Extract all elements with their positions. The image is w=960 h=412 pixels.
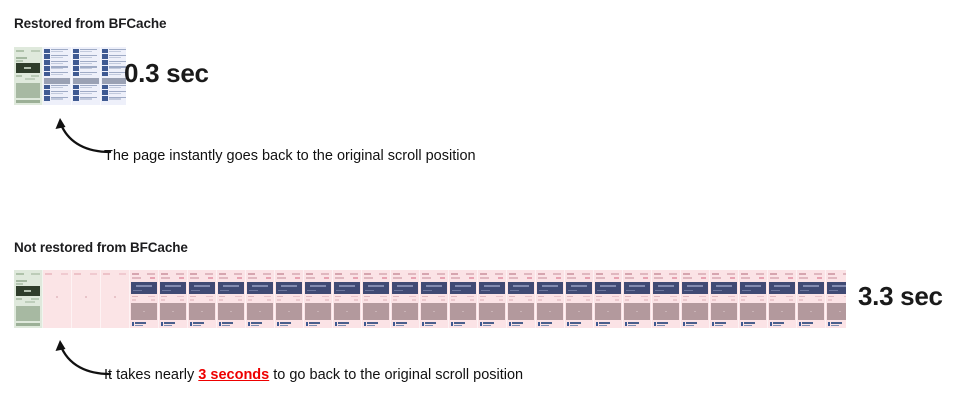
filmstrip-frame[interactable] (826, 270, 846, 328)
filmstrip-frame[interactable] (43, 47, 72, 105)
filmstrip-frame[interactable] (594, 270, 623, 328)
filmstrip-frame[interactable] (623, 270, 652, 328)
filmstrip-frame[interactable] (652, 270, 681, 328)
filmstrip-restored[interactable] (14, 47, 126, 105)
filmstrip-frame[interactable] (246, 270, 275, 328)
filmstrip-frame[interactable] (275, 270, 304, 328)
filmstrip-frame[interactable] (333, 270, 362, 328)
filmstrip-frame[interactable] (101, 270, 130, 328)
section-heading-restored: Restored from BFCache (14, 16, 166, 31)
filmstrip-frame[interactable] (43, 270, 72, 328)
filmstrip-frame[interactable] (72, 270, 101, 328)
filmstrip-frame[interactable] (565, 270, 594, 328)
time-label-not-restored: 3.3 sec (858, 281, 943, 312)
section-heading-not-restored: Not restored from BFCache (14, 240, 188, 255)
filmstrip-frame[interactable] (14, 270, 43, 328)
curved-arrow-icon-restored (48, 108, 112, 158)
caption-not-restored-prefix: It takes nearly (104, 367, 198, 383)
filmstrip-frame[interactable] (797, 270, 826, 328)
curved-arrow-icon-not-restored (48, 330, 112, 380)
filmstrip-frame[interactable] (217, 270, 246, 328)
filmstrip-frame[interactable] (449, 270, 478, 328)
caption-restored-prefix: The page instantly goes back to the orig… (104, 148, 476, 164)
filmstrip-frame[interactable] (14, 47, 43, 105)
filmstrip-not-restored[interactable] (14, 270, 846, 328)
caption-highlight-3-seconds: 3 seconds (198, 367, 269, 383)
filmstrip-frame[interactable] (478, 270, 507, 328)
filmstrip-frame[interactable] (130, 270, 159, 328)
filmstrip-frame[interactable] (101, 47, 126, 105)
caption-not-restored: It takes nearly 3 seconds to go back to … (104, 367, 523, 383)
filmstrip-frame[interactable] (768, 270, 797, 328)
filmstrip-frame[interactable] (72, 47, 101, 105)
filmstrip-frame[interactable] (304, 270, 333, 328)
filmstrip-frame[interactable] (739, 270, 768, 328)
filmstrip-frame[interactable] (391, 270, 420, 328)
filmstrip-frame[interactable] (362, 270, 391, 328)
filmstrip-frame[interactable] (536, 270, 565, 328)
filmstrip-frame[interactable] (420, 270, 449, 328)
time-label-restored: 0.3 sec (124, 58, 209, 89)
filmstrip-frame[interactable] (159, 270, 188, 328)
caption-not-restored-suffix: to go back to the original scroll positi… (269, 367, 523, 383)
filmstrip-frame[interactable] (507, 270, 536, 328)
filmstrip-frame[interactable] (710, 270, 739, 328)
caption-restored: The page instantly goes back to the orig… (104, 148, 476, 164)
filmstrip-frame[interactable] (681, 270, 710, 328)
filmstrip-frame[interactable] (188, 270, 217, 328)
